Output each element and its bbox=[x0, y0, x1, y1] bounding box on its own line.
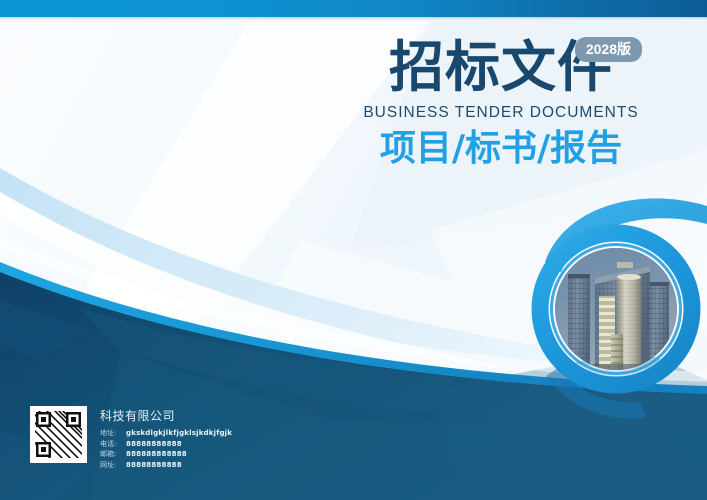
contact-label-email: 邮箱: bbox=[100, 449, 126, 460]
version-badge: 2028版 bbox=[575, 37, 642, 62]
contact-row-email: 邮箱:888888888888 bbox=[100, 449, 232, 460]
contact-label-website: 网址: bbox=[100, 460, 126, 471]
company-details: 科技有限公司 地址:gkskdlgkjlkfjgklsjkdkjfgjk 电话:… bbox=[100, 406, 232, 470]
contact-row-phone: 电话:88888888888 bbox=[100, 439, 232, 450]
skyscraper-illustration bbox=[555, 248, 677, 370]
contact-label-address: 地址: bbox=[100, 428, 126, 439]
contact-value-address: gkskdlgkjlkfjgklsjkdkjfgjk bbox=[126, 429, 232, 437]
company-name: 科技有限公司 bbox=[100, 407, 232, 424]
contact-label-phone: 电话: bbox=[100, 439, 126, 450]
qr-code-icon bbox=[32, 408, 85, 461]
contact-value-phone: 88888888888 bbox=[126, 440, 182, 448]
tender-cover-page: 招标文件 2028版 BUSINESS TENDER DOCUMENTS 项目/… bbox=[0, 0, 707, 500]
contact-row-website: 网址:88888888888 bbox=[100, 460, 232, 471]
contact-row-address: 地址:gkskdlgkjlkfjgklsjkdkjfgjk bbox=[100, 428, 232, 439]
contact-value-email: 888888888888 bbox=[126, 450, 187, 458]
footer-contact-block: 科技有限公司 地址:gkskdlgkjlkfjgklsjkdkjfgjk 电话:… bbox=[30, 406, 232, 470]
contact-value-website: 88888888888 bbox=[126, 461, 182, 469]
building-photo bbox=[555, 248, 677, 370]
qr-code bbox=[30, 406, 87, 463]
